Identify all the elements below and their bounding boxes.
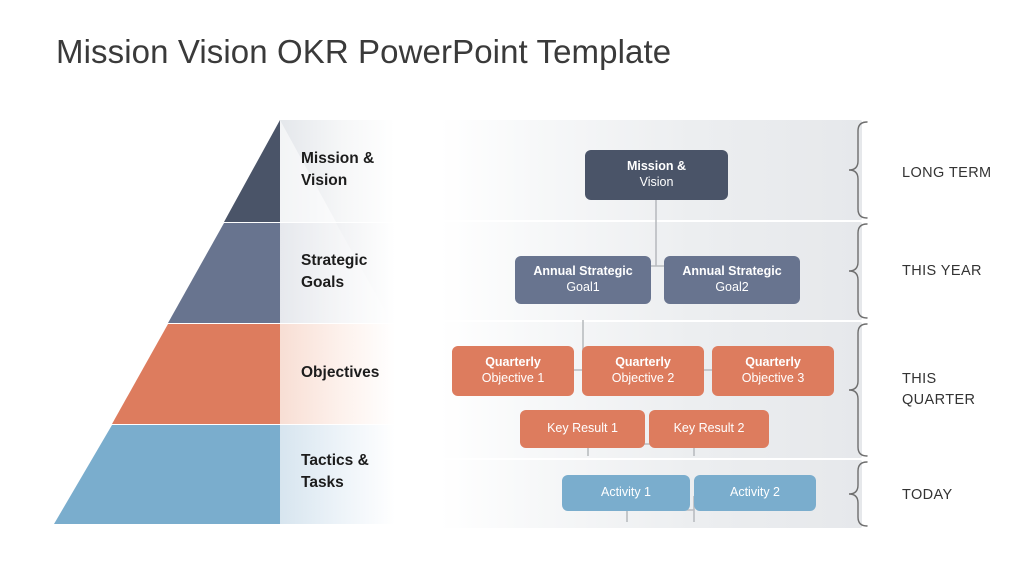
node-key-result-1-title: Key Result 1 xyxy=(547,421,618,437)
node-quarterly-objective-1[interactable]: Quarterly Objective 1 xyxy=(452,346,574,396)
node-activity-1-title: Activity 1 xyxy=(601,485,651,501)
node-goal-1-subtitle: Goal1 xyxy=(566,280,599,296)
node-objective-3-subtitle: Objective 3 xyxy=(742,371,805,387)
node-mission-vision[interactable]: Mission & Vision xyxy=(585,150,728,200)
node-goal-2-title: Annual Strategic xyxy=(682,264,781,280)
node-objective-2-subtitle: Objective 2 xyxy=(612,371,675,387)
node-objective-1-title: Quarterly xyxy=(485,355,541,371)
node-objective-1-subtitle: Objective 1 xyxy=(482,371,545,387)
node-mission-vision-title: Mission & xyxy=(627,159,686,175)
pyramid-label-tactics-tasks: Tactics & Tasks xyxy=(301,450,369,494)
node-annual-strategic-goal-2[interactable]: Annual Strategic Goal2 xyxy=(664,256,800,304)
pyramid-band-tactics-tasks xyxy=(54,425,280,524)
node-key-result-1[interactable]: Key Result 1 xyxy=(520,410,645,448)
pyramid-band-objectives xyxy=(112,324,280,424)
node-objective-3-title: Quarterly xyxy=(745,355,801,371)
node-key-result-2-title: Key Result 2 xyxy=(674,421,745,437)
pyramid-band-mission-vision xyxy=(224,120,280,222)
timeframe-label-long-term: LONG TERM xyxy=(902,163,992,184)
node-activity-1[interactable]: Activity 1 xyxy=(562,475,690,511)
pyramid-label-mission-vision: Mission & Vision xyxy=(301,148,374,192)
pyramid-shape xyxy=(40,118,440,528)
slide-canvas: Mission Vision OKR PowerPoint Template xyxy=(0,0,1024,576)
node-objective-2-title: Quarterly xyxy=(615,355,671,371)
page-title: Mission Vision OKR PowerPoint Template xyxy=(56,33,671,71)
pyramid-label-strategic-goals: Strategic Goals xyxy=(301,250,367,294)
pyramid-band-strategic-goals xyxy=(168,223,280,323)
node-quarterly-objective-3[interactable]: Quarterly Objective 3 xyxy=(712,346,834,396)
node-quarterly-objective-2[interactable]: Quarterly Objective 2 xyxy=(582,346,704,396)
timeframe-label-this-quarter: THIS QUARTER xyxy=(902,369,975,411)
pyramid-diagram: Mission & Vision Strategic Goals Objecti… xyxy=(40,118,440,528)
timeframe-label-today: TODAY xyxy=(902,485,953,506)
node-goal-1-title: Annual Strategic xyxy=(533,264,632,280)
node-activity-2[interactable]: Activity 2 xyxy=(694,475,816,511)
okr-tree-diagram: Mission & Vision Annual Strategic Goal1 … xyxy=(420,118,1024,530)
node-key-result-2[interactable]: Key Result 2 xyxy=(649,410,769,448)
node-annual-strategic-goal-1[interactable]: Annual Strategic Goal1 xyxy=(515,256,651,304)
node-goal-2-subtitle: Goal2 xyxy=(715,280,748,296)
node-activity-2-title: Activity 2 xyxy=(730,485,780,501)
node-mission-vision-subtitle: Vision xyxy=(640,175,674,191)
pyramid-label-objectives: Objectives xyxy=(301,362,379,384)
timeframe-label-this-year: THIS YEAR xyxy=(902,261,982,282)
